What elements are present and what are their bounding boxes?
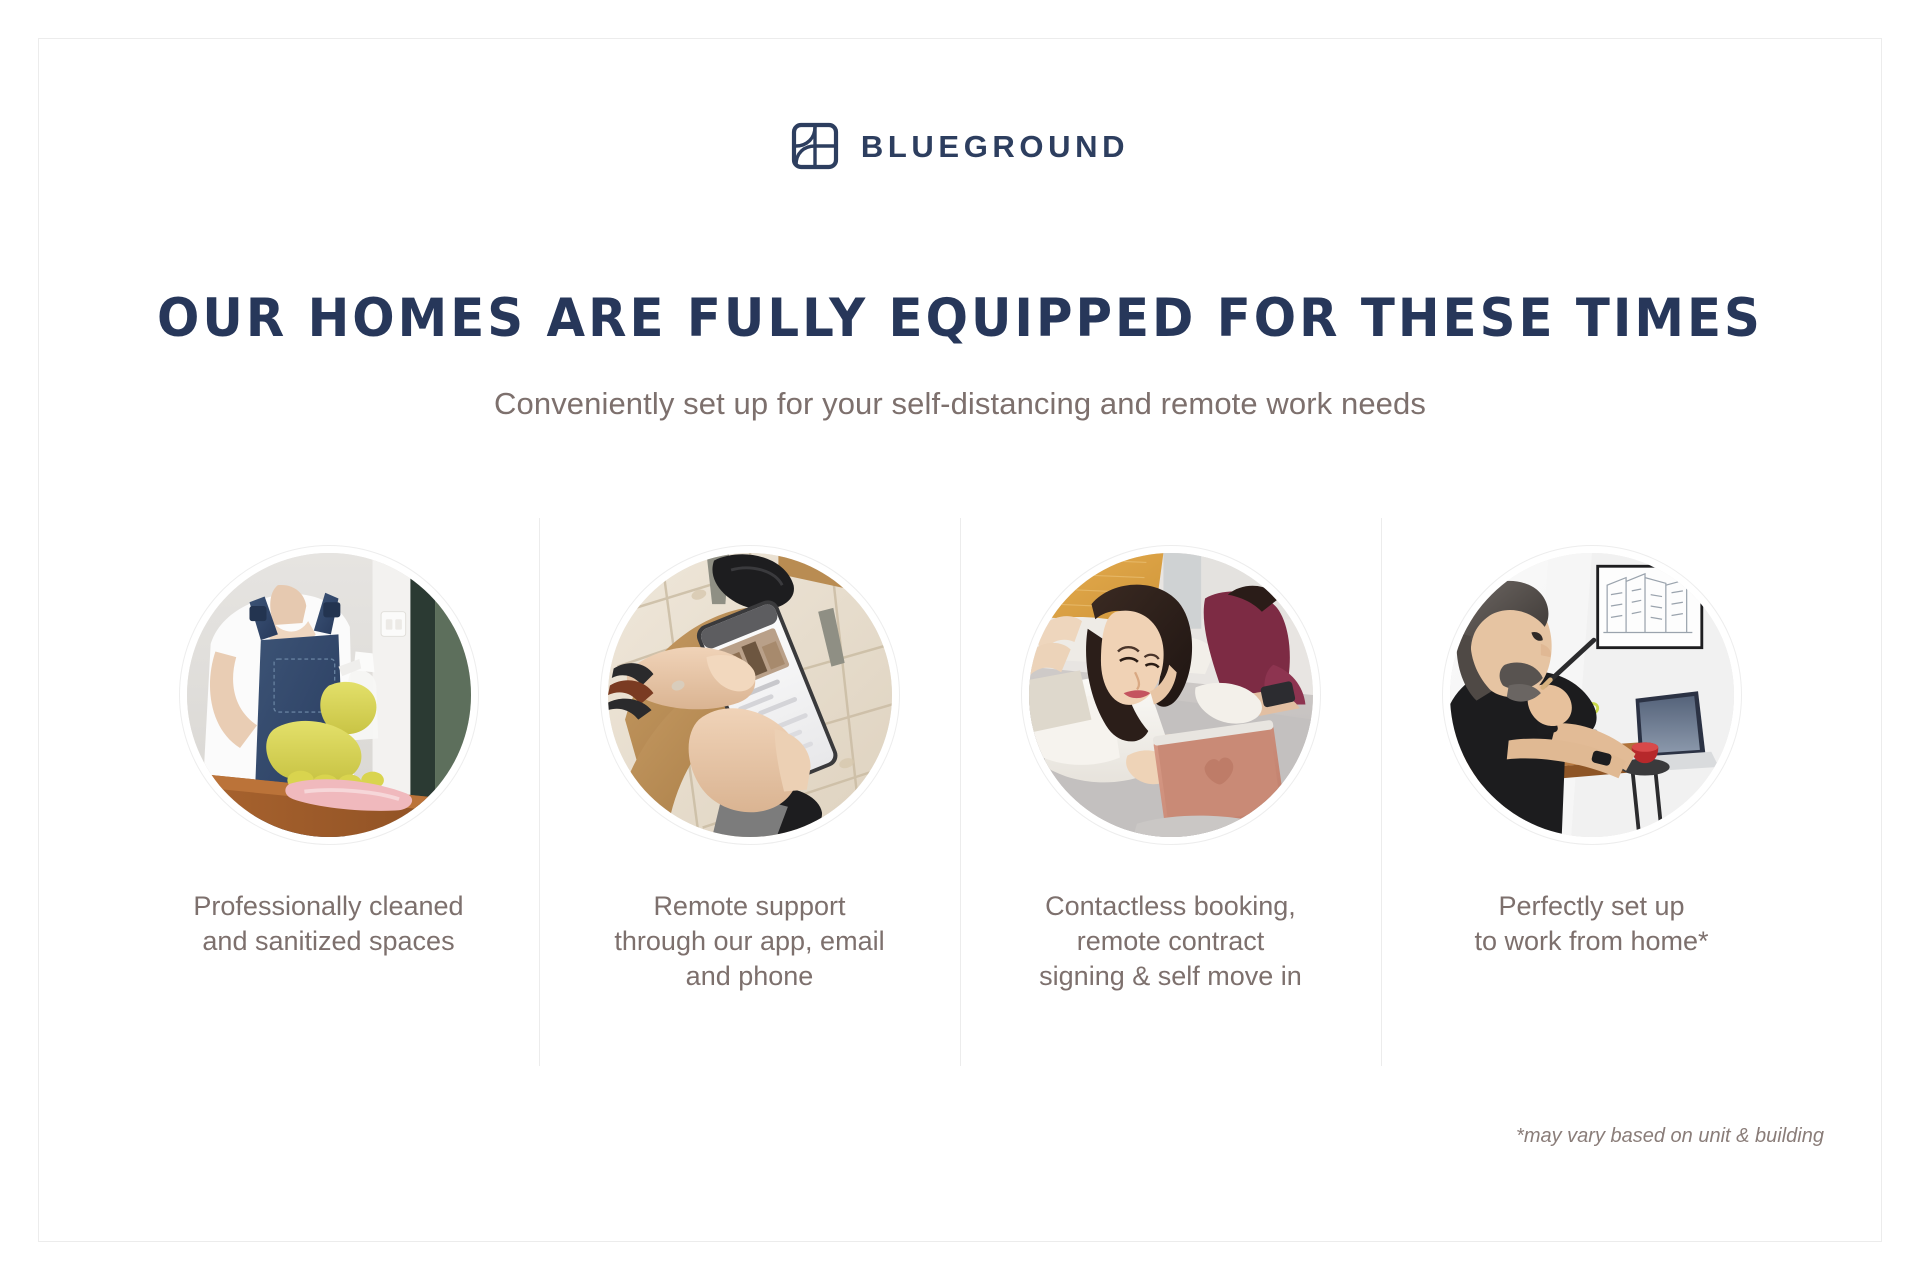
- feature-caption: Professionally cleaned and sanitized spa…: [185, 889, 471, 959]
- page-subtitle: Conveniently set up for your self-distan…: [0, 386, 1920, 422]
- photo-cleaning-staff: [187, 553, 471, 837]
- photo-ring: [1021, 545, 1321, 845]
- photo-ring: [1442, 545, 1742, 845]
- poster-canvas: BLUEGROUND OUR HOMES ARE FULLY EQUIPPED …: [0, 0, 1920, 1280]
- photo-ring: [600, 545, 900, 845]
- feature-column-work-from-home: Perfectly set up to work from home*: [1381, 518, 1802, 1066]
- feature-caption: Remote support through our app, email an…: [606, 889, 892, 994]
- photo-tablet-booking: [1029, 553, 1313, 837]
- photo-phone-app-support: [608, 553, 892, 837]
- brand-lockup: BLUEGROUND: [0, 122, 1920, 170]
- feature-column-remote-support: Remote support through our app, email an…: [539, 518, 960, 1066]
- feature-column-contactless-booking: Contactless booking, remote contract sig…: [960, 518, 1381, 1066]
- feature-caption: Contactless booking, remote contract sig…: [1031, 889, 1310, 994]
- photo-work-from-home: [1450, 553, 1734, 837]
- footnote-disclaimer: *may vary based on unit & building: [1516, 1125, 1824, 1148]
- blueground-logo-icon: [791, 122, 839, 170]
- feature-caption: Perfectly set up to work from home*: [1466, 889, 1716, 959]
- feature-column-cleaning: Professionally cleaned and sanitized spa…: [118, 518, 539, 1066]
- brand-wordmark: BLUEGROUND: [861, 131, 1129, 162]
- feature-columns: Professionally cleaned and sanitized spa…: [118, 518, 1802, 1066]
- photo-ring: [179, 545, 479, 845]
- page-title: OUR HOMES ARE FULLY EQUIPPED FOR THESE T…: [58, 291, 1863, 347]
